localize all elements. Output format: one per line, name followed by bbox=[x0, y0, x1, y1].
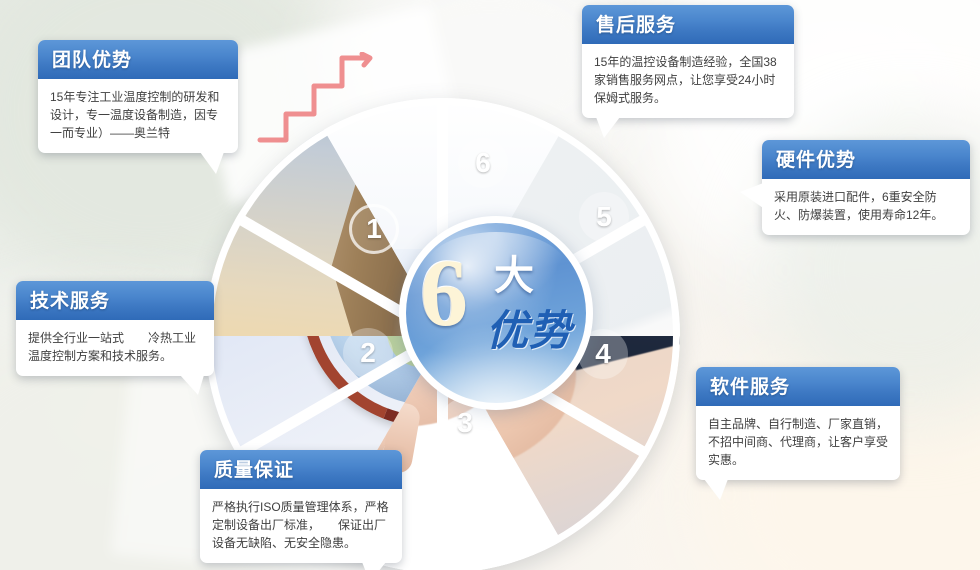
card-hardware-text: 采用原装进口配件，6重安全防火、防爆装置，使用寿命12年。 bbox=[762, 179, 970, 235]
center-hub: 6 大 优势 bbox=[399, 216, 593, 410]
center-hub-disc: 6 大 优势 bbox=[406, 223, 586, 403]
callout-card-quality[interactable]: 质量保证 严格执行ISO质量管理体系，严格定制设备出厂标准， 保证出厂设备无缺陷… bbox=[200, 450, 402, 563]
hub-number-six: 6 bbox=[420, 245, 468, 341]
card-tail bbox=[740, 182, 766, 210]
card-after-sales-title: 售后服务 bbox=[582, 5, 794, 44]
card-tail bbox=[180, 375, 204, 395]
infographic-canvas: INTC 440.86 bbox=[0, 0, 980, 570]
callout-card-hardware[interactable]: 硬件优势 采用原装进口配件，6重安全防火、防爆装置，使用寿命12年。 bbox=[762, 140, 970, 235]
callout-card-software[interactable]: 软件服务 自主品牌、自行制造、厂家直销，不招中间商、代理商，让客户享受实惠。 bbox=[696, 367, 900, 480]
badge-2[interactable]: 2 bbox=[343, 328, 393, 378]
card-quality-text: 严格执行ISO质量管理体系，严格定制设备出厂标准， 保证出厂设备无缺陷、无安全隐… bbox=[200, 489, 402, 563]
card-team-text: 15年专注工业温度控制的研发和设计，专一温度设备制造，因专一而专业）——奥兰特 bbox=[38, 79, 238, 153]
badge-2-label: 2 bbox=[360, 337, 376, 369]
badge-6[interactable]: 6 bbox=[458, 138, 508, 188]
card-team-title: 团队优势 bbox=[38, 40, 238, 79]
badge-1[interactable]: 1 bbox=[349, 204, 399, 254]
badge-3[interactable]: 3 bbox=[440, 398, 490, 448]
badge-4[interactable]: 4 bbox=[578, 329, 628, 379]
card-software-text: 自主品牌、自行制造、厂家直销，不招中间商、代理商，让客户享受实惠。 bbox=[696, 406, 900, 480]
card-software-title: 软件服务 bbox=[696, 367, 900, 406]
badge-1-label: 1 bbox=[366, 213, 382, 245]
card-tail bbox=[596, 117, 620, 138]
card-hardware-title: 硬件优势 bbox=[762, 140, 970, 179]
card-tail bbox=[200, 152, 224, 174]
card-tail bbox=[704, 479, 728, 500]
card-tail bbox=[362, 562, 386, 570]
callout-card-tech[interactable]: 技术服务 提供全行业一站式 冷热工业温度控制方案和技术服务。 bbox=[16, 281, 214, 376]
card-tech-text: 提供全行业一站式 冷热工业温度控制方案和技术服务。 bbox=[16, 320, 214, 376]
badge-5-label: 5 bbox=[596, 201, 612, 233]
badge-6-label: 6 bbox=[475, 147, 491, 179]
card-after-sales-text: 15年的温控设备制造经验，全国38家销售服务网点，让您享受24小时保姆式服务。 bbox=[582, 44, 794, 118]
hub-char-da: 大 bbox=[494, 243, 534, 301]
callout-card-team[interactable]: 团队优势 15年专注工业温度控制的研发和设计，专一温度设备制造，因专一而专业）—… bbox=[38, 40, 238, 153]
hub-char-youshi: 优势 bbox=[486, 297, 572, 358]
callout-card-after-sales[interactable]: 售后服务 15年的温控设备制造经验，全国38家销售服务网点，让您享受24小时保姆… bbox=[582, 5, 794, 118]
badge-3-label: 3 bbox=[457, 407, 473, 439]
card-quality-title: 质量保证 bbox=[200, 450, 402, 489]
badge-5[interactable]: 5 bbox=[579, 192, 629, 242]
badge-4-label: 4 bbox=[595, 338, 611, 370]
card-tech-title: 技术服务 bbox=[16, 281, 214, 320]
